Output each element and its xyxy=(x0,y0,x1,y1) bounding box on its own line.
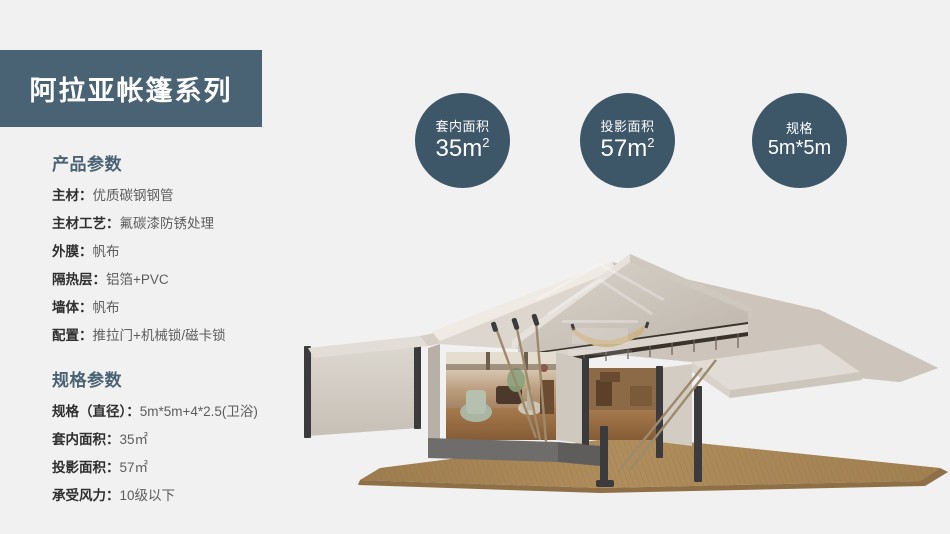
param-label: 投影面积： xyxy=(52,460,120,475)
list-item: 配置：推拉门+机械锁/磁卡锁 xyxy=(52,323,330,349)
title-banner: 阿拉亚帐篷系列 xyxy=(0,50,262,127)
list-item: 主材：优质碳钢钢管 xyxy=(52,183,330,209)
stat-value: 57m2 xyxy=(601,136,655,161)
param-label: 隔热层： xyxy=(52,272,106,287)
stat-value: 5m*5m xyxy=(768,138,831,159)
stat-badge-interior-area: 套内面积 35m2 xyxy=(415,93,510,188)
list-item: 墙体：帆布 xyxy=(52,295,330,321)
param-label: 主材： xyxy=(52,188,93,203)
param-label: 外膜： xyxy=(52,244,93,259)
stat-value: 35m2 xyxy=(436,136,490,161)
spec-parameter-list: 规格（直径）：5m*5m+4*2.5(卫浴) 套内面积：35㎡ 投影面积：57㎡… xyxy=(0,399,330,509)
stat-label: 套内面积 xyxy=(435,120,489,134)
param-value: 10级以下 xyxy=(120,488,176,503)
param-value: 5m*5m+4*2.5(卫浴) xyxy=(140,404,258,419)
parameters-column: 产品参数 主材：优质碳钢钢管 主材工艺：氟碳漆防锈处理 外膜：帆布 隔热层：铝箔… xyxy=(0,150,330,511)
param-label: 规格（直径）： xyxy=(52,404,140,419)
param-value: 35㎡ xyxy=(120,432,149,447)
param-label: 墙体： xyxy=(52,300,93,315)
param-label: 配置： xyxy=(52,328,93,343)
list-item: 承受风力：10级以下 xyxy=(52,483,330,509)
stat-badge-dimensions: 规格 5m*5m xyxy=(752,93,847,188)
product-spec-page: 阿拉亚帐篷系列 产品参数 主材：优质碳钢钢管 主材工艺：氟碳漆防锈处理 外膜：帆… xyxy=(0,0,950,534)
list-item: 隔热层：铝箔+PVC xyxy=(52,267,330,293)
stat-badge-projected-area: 投影面积 57m2 xyxy=(580,93,675,188)
param-value: 57㎡ xyxy=(120,460,149,475)
param-value: 帆布 xyxy=(93,300,120,315)
param-value: 氟碳漆防锈处理 xyxy=(120,216,215,231)
list-item: 套内面积：35㎡ xyxy=(52,427,330,453)
spec-section-heading: 规格参数 xyxy=(52,366,330,391)
list-item: 规格（直径）：5m*5m+4*2.5(卫浴) xyxy=(52,399,330,425)
product-parameter-list: 主材：优质碳钢钢管 主材工艺：氟碳漆防锈处理 外膜：帆布 隔热层：铝箔+PVC … xyxy=(0,183,330,349)
stat-label: 投影面积 xyxy=(600,120,654,134)
list-item: 外膜：帆布 xyxy=(52,239,330,265)
param-value: 优质碳钢钢管 xyxy=(93,188,174,203)
param-value: 帆布 xyxy=(93,244,120,259)
param-label: 承受风力： xyxy=(52,488,120,503)
list-item: 主材工艺：氟碳漆防锈处理 xyxy=(52,211,330,237)
product-section-heading: 产品参数 xyxy=(52,150,330,175)
param-label: 主材工艺： xyxy=(52,216,120,231)
param-value: 推拉门+机械锁/磁卡锁 xyxy=(93,328,226,343)
param-label: 套内面积： xyxy=(52,432,120,447)
stat-label: 规格 xyxy=(786,122,813,136)
tent-illustration xyxy=(300,240,950,534)
param-value: 铝箔+PVC xyxy=(106,272,169,287)
page-title: 阿拉亚帐篷系列 xyxy=(30,69,233,108)
list-item: 投影面积：57㎡ xyxy=(52,455,330,481)
